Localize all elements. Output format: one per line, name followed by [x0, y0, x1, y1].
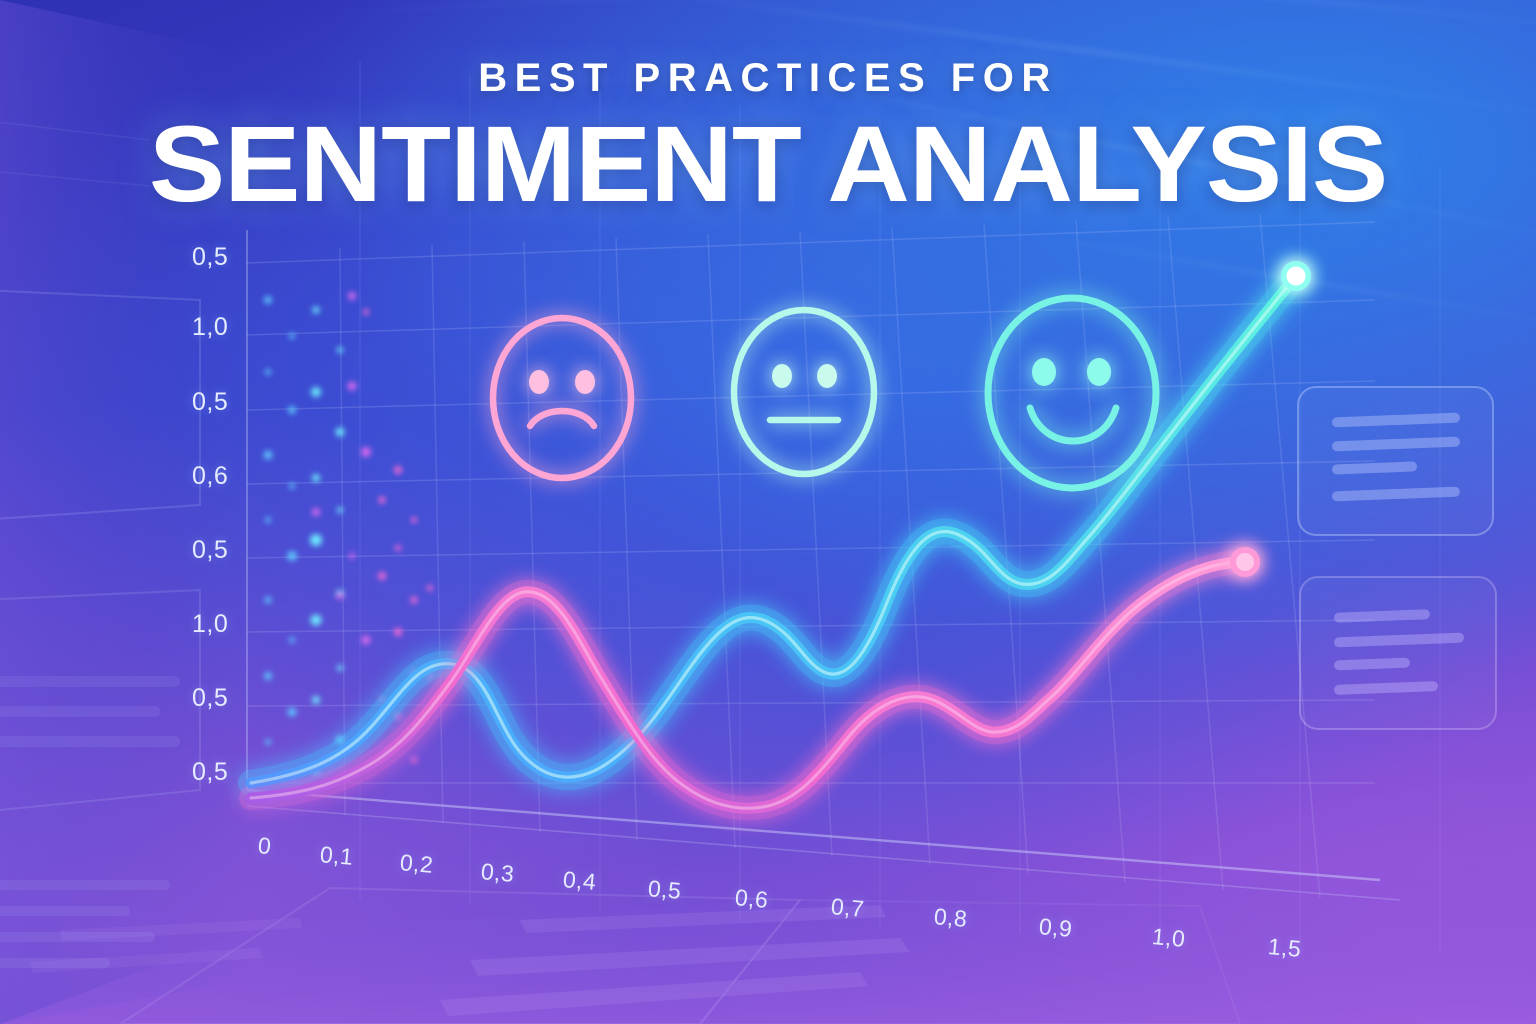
y-tick-4: 0,5	[192, 536, 228, 565]
title-block: BEST PRACTICES FOR SENTIMENT ANALYSIS	[0, 58, 1536, 218]
sentiment-analysis-infographic: 0,5 1,0 0,5 0,6 0,5 1,0 0,5 0,5 0 0,1 0,…	[0, 0, 1536, 1024]
x-tick-3: 0,3	[480, 858, 516, 888]
y-tick-6: 0,5	[192, 684, 228, 713]
data-point-cloud	[264, 292, 434, 779]
x-tick-9: 0,9	[1038, 913, 1074, 943]
cyan-line-endpoint-marker	[1281, 261, 1311, 291]
negative-sentiment-face	[482, 310, 642, 486]
x-tick-0: 0	[257, 832, 273, 860]
positive-sentiment-face	[980, 290, 1170, 498]
info-card-top[interactable]	[1296, 385, 1501, 540]
x-tick-4: 0,4	[562, 866, 598, 896]
y-tick-0: 0,5	[192, 243, 228, 272]
x-tick-5: 0,5	[647, 875, 683, 905]
x-tick-10: 1,0	[1151, 923, 1187, 953]
pink-sentiment-line	[251, 562, 1245, 808]
background-panels	[0, 120, 200, 968]
x-tick-8: 0,8	[933, 903, 969, 933]
x-tick-6: 0,6	[734, 884, 770, 914]
page-title: SENTIMENT ANALYSIS	[0, 110, 1536, 218]
kicker-text: BEST PRACTICES FOR	[0, 58, 1536, 98]
info-card-bottom[interactable]	[1298, 575, 1503, 735]
pink-line-endpoint-marker	[1230, 547, 1260, 577]
y-tick-5: 1,0	[192, 610, 228, 639]
x-tick-7: 0,7	[830, 893, 866, 923]
y-tick-1: 1,0	[192, 313, 228, 342]
y-tick-3: 0,6	[192, 462, 228, 491]
x-tick-1: 0,1	[319, 841, 355, 871]
y-tick-2: 0,5	[192, 388, 228, 417]
x-tick-11: 1,5	[1267, 933, 1303, 963]
floor-panels	[30, 888, 1240, 1024]
y-tick-7: 0,5	[192, 758, 228, 787]
x-tick-2: 0,2	[399, 849, 435, 879]
neutral-sentiment-face	[726, 302, 886, 482]
